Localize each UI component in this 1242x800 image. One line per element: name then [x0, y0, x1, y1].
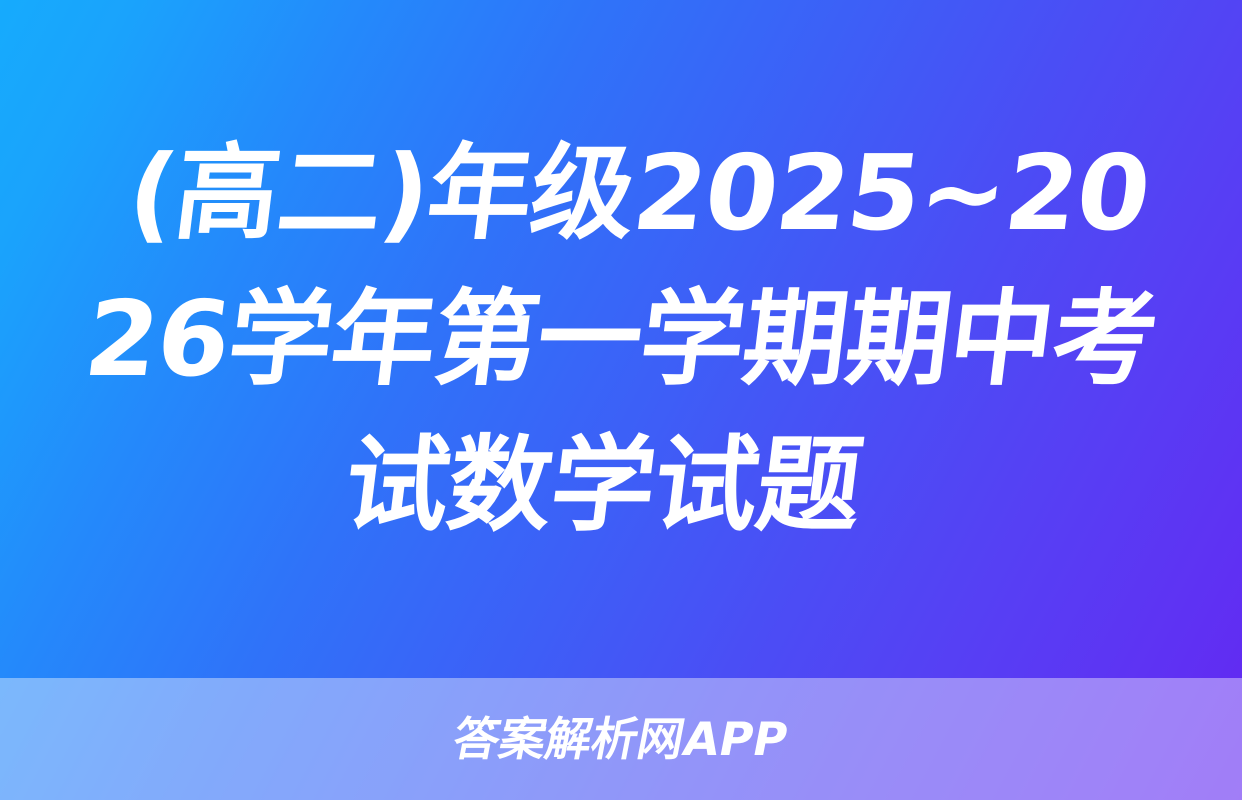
brand-watermark: 答案解析网APP — [450, 716, 792, 762]
page-title: (高二)年级2025~2026 学年第一学期期中考试数 学试题 — [59, 120, 1183, 558]
footer-brand-band: 答案解析网APP — [0, 678, 1242, 800]
exam-cover-banner: (高二)年级2025~2026 学年第一学期期中考试数 学试题 答案解析网APP — [0, 0, 1242, 800]
title-area: (高二)年级2025~2026 学年第一学期期中考试数 学试题 — [0, 0, 1242, 678]
footer-inner: 答案解析网APP — [0, 678, 1242, 800]
title-line-3: 学试题 — [544, 424, 868, 546]
